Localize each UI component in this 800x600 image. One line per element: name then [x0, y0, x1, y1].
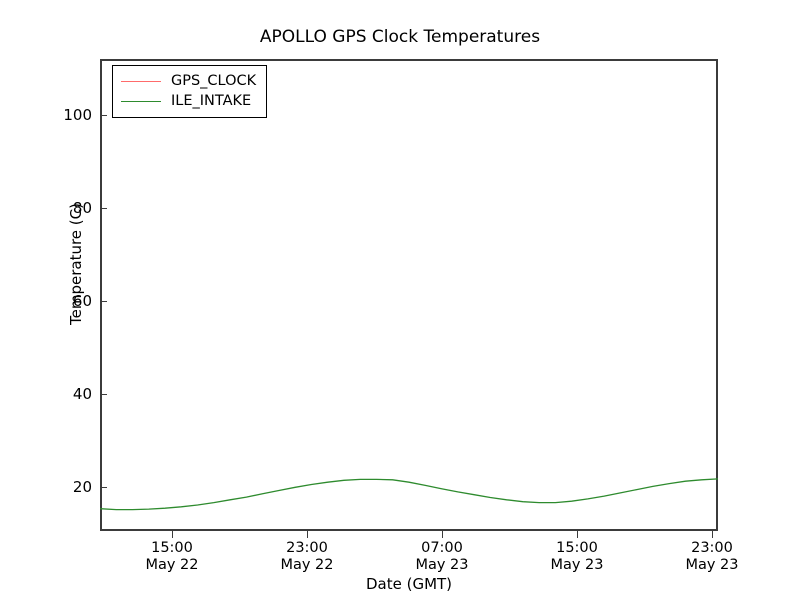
x-tick-time: 15:00	[556, 540, 598, 556]
x-tick-date: May 23	[372, 557, 512, 574]
legend: GPS_CLOCKILE_INTAKE	[112, 65, 267, 118]
y-tick-label: 40	[32, 387, 92, 402]
legend-item: GPS_CLOCK	[119, 71, 256, 91]
legend-item-label: GPS_CLOCK	[171, 74, 256, 89]
y-tick-label: 100	[32, 108, 92, 123]
x-tick-mark	[577, 531, 578, 538]
x-axis-label: Date (GMT)	[100, 575, 718, 593]
x-tick-date: May 22	[237, 557, 377, 574]
y-tick-mark	[100, 208, 107, 209]
line-series-ile-intake	[100, 479, 718, 510]
y-tick-label: 20	[32, 480, 92, 495]
y-tick-mark	[100, 301, 107, 302]
x-tick-date: May 22	[102, 557, 242, 574]
x-tick-label: 23:00May 23	[642, 540, 782, 574]
chart-plot	[100, 59, 718, 531]
x-tick-mark	[307, 531, 308, 538]
legend-color-swatch	[121, 81, 161, 82]
x-tick-mark	[172, 531, 173, 538]
x-tick-date: May 23	[642, 557, 782, 574]
x-tick-time: 23:00	[286, 540, 328, 556]
legend-item-label: ILE_INTAKE	[171, 94, 251, 109]
page-title: APOLLO GPS Clock Temperatures	[0, 27, 800, 47]
x-tick-label: 15:00May 23	[507, 540, 647, 574]
y-tick-mark	[100, 394, 107, 395]
y-tick-mark	[100, 115, 107, 116]
y-axis-label: Temperature (C)	[68, 164, 84, 364]
x-tick-mark	[442, 531, 443, 538]
x-tick-date: May 23	[507, 557, 647, 574]
x-tick-mark	[712, 531, 713, 538]
x-tick-label: 07:00May 23	[372, 540, 512, 574]
legend-color-swatch	[121, 101, 161, 102]
x-tick-time: 07:00	[421, 540, 463, 556]
x-tick-label: 23:00May 22	[237, 540, 377, 574]
figure-canvas: APOLLO GPS Clock Temperatures 2040608010…	[0, 0, 800, 600]
x-tick-label: 15:00May 22	[102, 540, 242, 574]
x-tick-time: 15:00	[151, 540, 193, 556]
y-tick-mark	[100, 487, 107, 488]
legend-item: ILE_INTAKE	[119, 91, 256, 111]
x-tick-time: 23:00	[691, 540, 733, 556]
